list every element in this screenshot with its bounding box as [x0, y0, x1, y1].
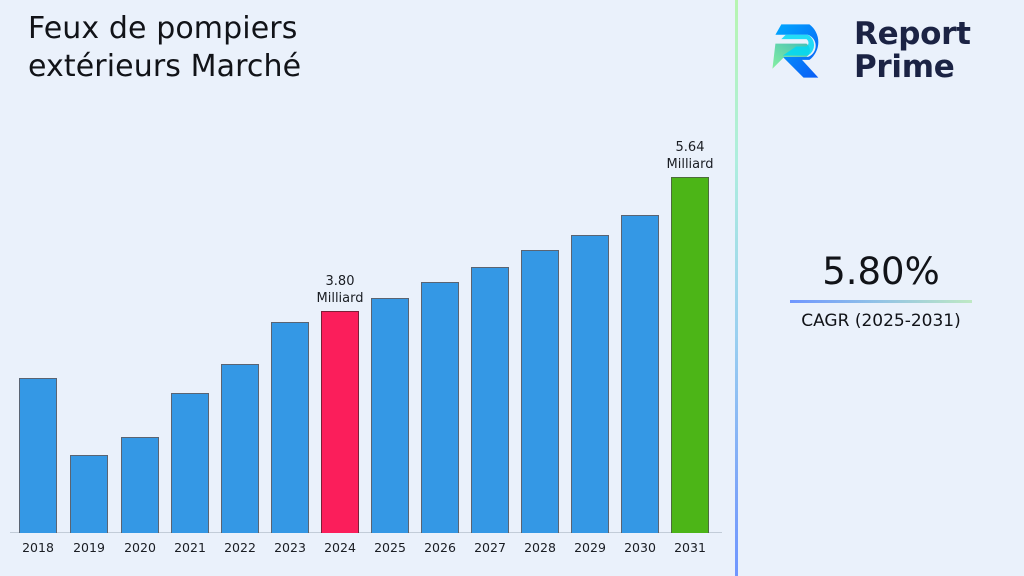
x-tick-2019: 2019: [73, 540, 105, 555]
bar-2030[interactable]: [621, 215, 659, 533]
bar-2028[interactable]: [521, 250, 559, 533]
x-tick-2022: 2022: [224, 540, 256, 555]
bar-value-label-2024: 3.80 Milliard: [317, 273, 364, 307]
x-tick-2024: 2024: [324, 540, 356, 555]
bar-2023[interactable]: [271, 322, 309, 533]
x-tick-2031: 2031: [674, 540, 706, 555]
x-tick-2021: 2021: [174, 540, 206, 555]
cagr-divider-rule: [790, 300, 972, 303]
chart-panel: Feux de pompiers extérieurs Marché 3.80 …: [0, 0, 736, 576]
bar-2020[interactable]: [121, 437, 159, 533]
bar-2022[interactable]: [221, 364, 259, 533]
bar-2025[interactable]: [371, 298, 409, 533]
screenshot-root: Feux de pompiers extérieurs Marché 3.80 …: [0, 0, 1024, 576]
bar-value-label-2031: 5.64 Milliard: [667, 139, 714, 173]
x-axis-tick-labels: 2018201920202021202220232024202520262027…: [0, 540, 736, 560]
bar-2031[interactable]: [671, 177, 709, 533]
report-prime-r-logo-icon: [768, 14, 842, 88]
x-axis-line: [10, 532, 722, 533]
bar-2021[interactable]: [171, 393, 209, 533]
x-tick-2030: 2030: [624, 540, 656, 555]
cagr-caption: CAGR (2025-2031): [738, 310, 1024, 332]
x-tick-2026: 2026: [424, 540, 456, 555]
bar-2026[interactable]: [421, 282, 459, 533]
bar-2027[interactable]: [471, 267, 509, 533]
bar-2024[interactable]: [321, 311, 359, 533]
bar-2029[interactable]: [571, 235, 609, 533]
x-tick-2025: 2025: [374, 540, 406, 555]
page-title: Feux de pompiers extérieurs Marché: [28, 10, 301, 86]
x-tick-2018: 2018: [22, 540, 54, 555]
bar-2018[interactable]: [19, 378, 57, 533]
x-tick-2023: 2023: [274, 540, 306, 555]
cagr-block: 5.80% CAGR (2025-2031): [738, 250, 1024, 332]
x-tick-2029: 2029: [574, 540, 606, 555]
right-panel: Report Prime 5.80% CAGR (2025-2031): [738, 0, 1024, 576]
x-tick-2020: 2020: [124, 540, 156, 555]
x-tick-2027: 2027: [474, 540, 506, 555]
brand-logo: Report Prime: [768, 14, 971, 88]
bar-chart-plot-area: 3.80 Milliard5.64 Milliard 2018201920202…: [0, 120, 736, 576]
x-tick-2028: 2028: [524, 540, 556, 555]
bar-2019[interactable]: [70, 455, 108, 533]
cagr-value: 5.80%: [738, 250, 1024, 294]
brand-name: Report Prime: [854, 18, 971, 84]
